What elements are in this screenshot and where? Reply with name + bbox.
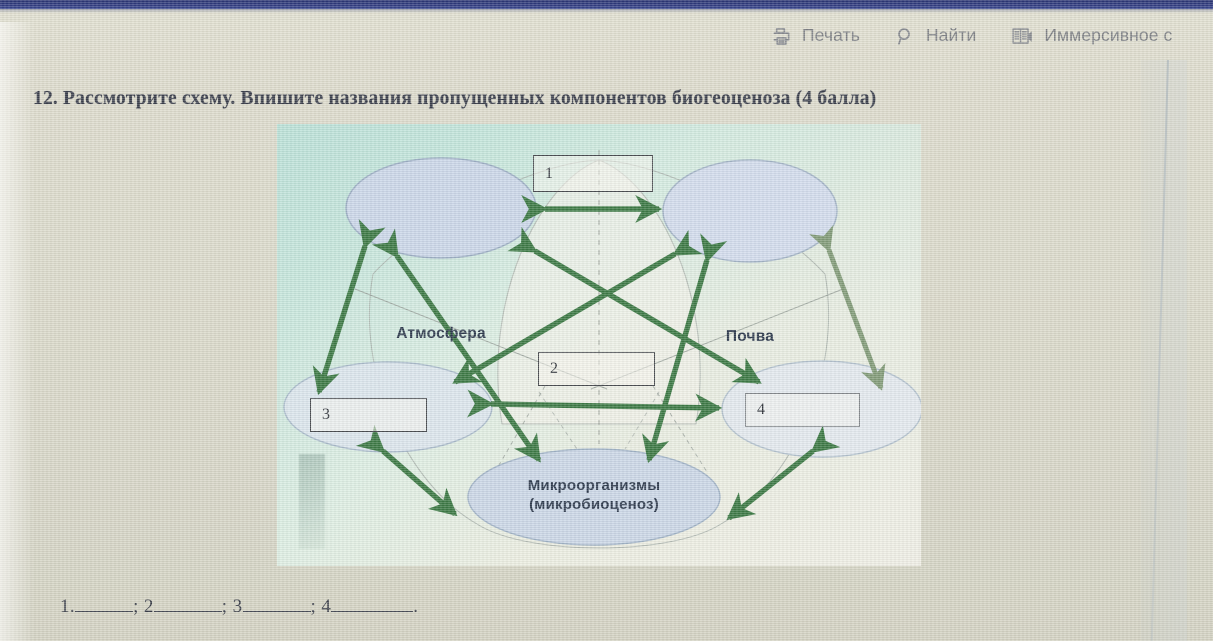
answer-period: . (413, 596, 418, 617)
answer-box-2-number: 2 (550, 360, 558, 378)
titlebar-shadow (0, 9, 1213, 13)
answer-box-3-number: 3 (322, 406, 330, 424)
find-button[interactable]: Найти (894, 25, 976, 48)
answer-2-blank[interactable] (154, 597, 222, 612)
print-icon (770, 25, 793, 48)
soil-oval (663, 160, 837, 262)
answer-4-blank[interactable] (331, 597, 413, 612)
answer-2-prefix: ; 2 (133, 596, 154, 617)
answer-box-1[interactable]: 1 (533, 155, 653, 192)
answer-box-4[interactable]: 4 (745, 393, 860, 427)
print-button-label: Печать (802, 27, 860, 46)
immersive-reader-icon (1010, 25, 1035, 48)
answer-box-4-number: 4 (757, 401, 765, 419)
atmosphere-oval (346, 158, 536, 258)
answer-blanks-line[interactable]: 1.; 2; 3; 4. (60, 596, 418, 618)
find-button-label: Найти (926, 27, 976, 46)
answer-1-blank[interactable] (75, 597, 133, 612)
answer-box-1-number: 1 (545, 165, 553, 183)
immersive-reader-label: Иммерсивное с (1044, 27, 1172, 46)
answer-box-3[interactable]: 3 (310, 398, 427, 432)
print-button[interactable]: Печать (770, 25, 860, 48)
answer-box-2[interactable]: 2 (538, 352, 655, 386)
microorganisms-oval (468, 449, 720, 545)
biogeocenosis-diagram: Атмосфера Почва Микроорганизмы (микробио… (277, 124, 921, 566)
document-toolbar: Печать Найти Иммерсивное (770, 18, 1172, 54)
screenshot-root: Печать Найти Иммерсивное (0, 0, 1213, 641)
search-icon (894, 25, 917, 48)
answer-1-prefix: 1. (60, 596, 75, 617)
immersive-reader-button[interactable]: Иммерсивное с (1010, 25, 1172, 48)
question-title: 12. Рассмотрите схему. Впишите названия … (33, 88, 876, 110)
answer-4-prefix: ; 4 (311, 596, 332, 617)
answer-3-prefix: ; 3 (222, 596, 243, 617)
answer-3-blank[interactable] (243, 597, 311, 612)
window-titlebar (0, 0, 1213, 9)
